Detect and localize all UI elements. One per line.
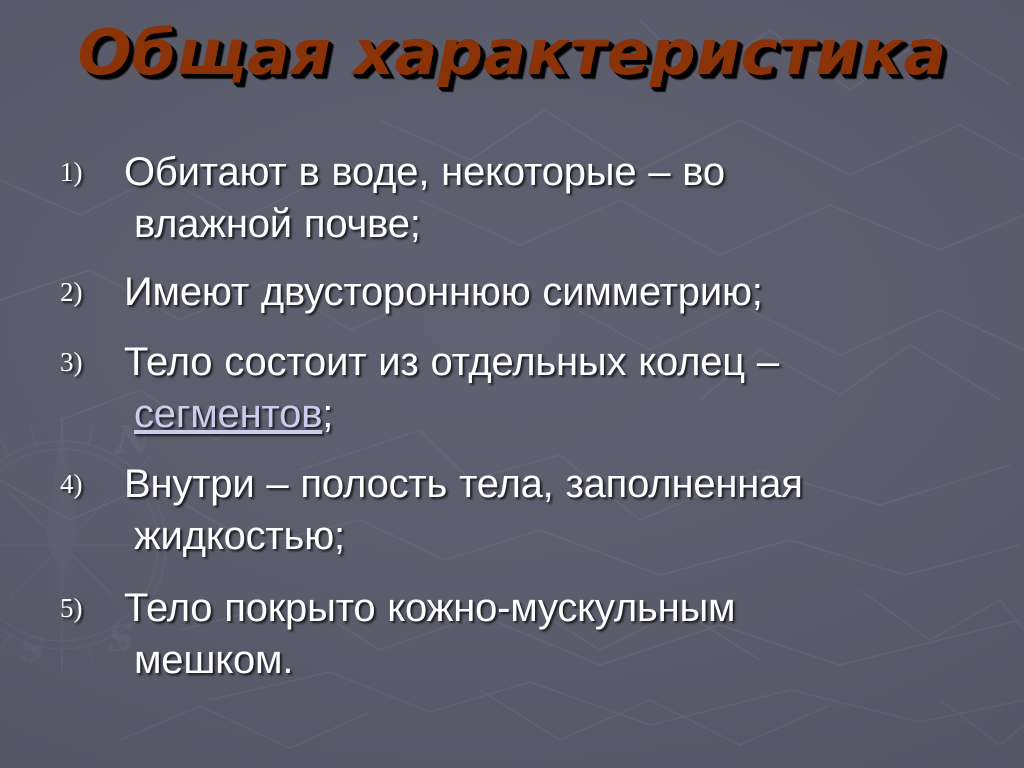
list-item: 1) Обитают в воде, некоторые – во влажно… [52, 146, 972, 250]
slide-title-text: Общая характеристика [77, 22, 946, 84]
list-item-line1: Тело состоит из отдельных колец – [124, 340, 779, 384]
presentation-slide: N S S Общая характеристика 1) Обитают в … [0, 0, 1024, 768]
content-list: 1) Обитают в воде, некоторые – во влажно… [52, 146, 972, 686]
list-item-line1: Тело покрыто кожно-мускульным [124, 586, 735, 630]
list-item-line2: влажной почве; [124, 198, 972, 250]
slide-title: Общая характеристика [0, 22, 1024, 84]
list-item-line2: жидкостью; [124, 510, 972, 562]
list-item-line1: Обитают в воде, некоторые – во [124, 150, 725, 194]
svg-text:S: S [20, 630, 45, 670]
list-item: 5) Тело покрыто кожно-мускульным мешком. [52, 582, 972, 686]
list-item-line1: Имеют двустороннюю симметрию; [124, 270, 763, 314]
list-item-text: Внутри – полость тела, заполненная жидко… [100, 458, 972, 562]
list-item-line2: сегментов; [124, 388, 972, 440]
list-item-line2: мешком. [124, 634, 972, 686]
list-item-text: Тело состоит из отдельных колец – сегмен… [100, 336, 972, 440]
list-item-line1: Внутри – полость тела, заполненная [124, 462, 803, 506]
list-item-number: 5) [52, 582, 100, 634]
list-item-number: 1) [52, 146, 100, 198]
list-item-line2-tail: ; [322, 392, 333, 436]
list-item-text: Имеют двустороннюю симметрию; [100, 266, 972, 318]
list-item: 2) Имеют двустороннюю симметрию; [52, 266, 972, 318]
segments-hyperlink[interactable]: сегментов [134, 392, 322, 436]
list-item: 4) Внутри – полость тела, заполненная жи… [52, 458, 972, 562]
list-item: 3) Тело состоит из отдельных колец – сег… [52, 336, 972, 440]
list-item-number: 4) [52, 458, 100, 510]
list-item-number: 3) [52, 336, 100, 388]
list-item-text: Тело покрыто кожно-мускульным мешком. [100, 582, 972, 686]
list-item-text: Обитают в воде, некоторые – во влажной п… [100, 146, 972, 250]
list-item-number: 2) [52, 266, 100, 318]
